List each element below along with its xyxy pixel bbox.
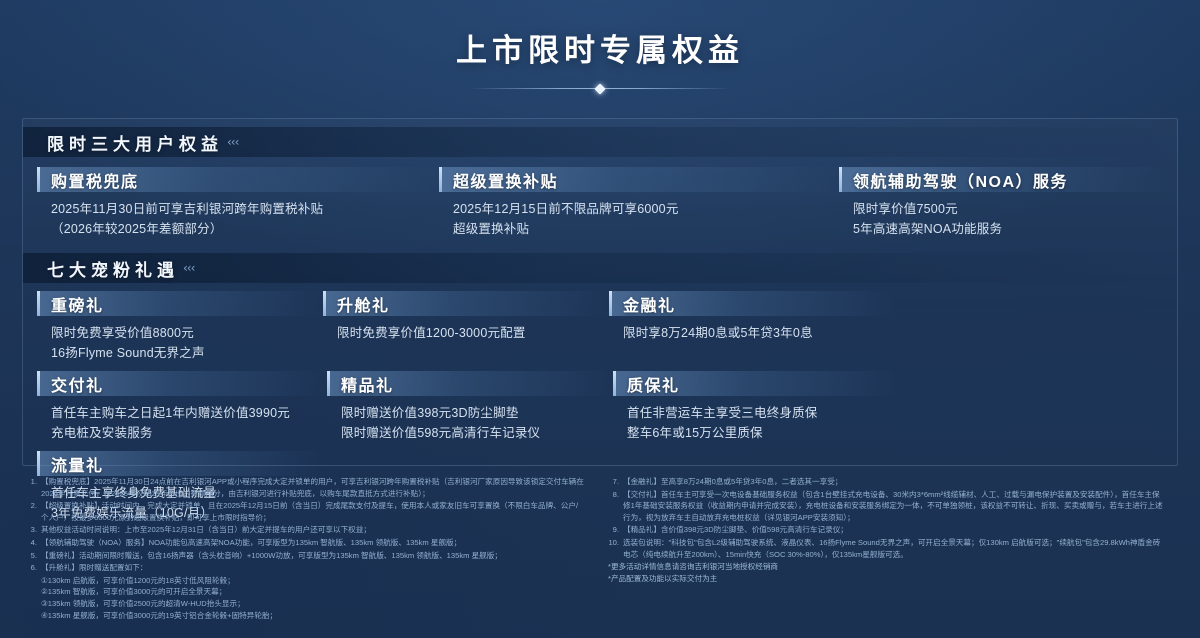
fineprint-text: 【领航辅助驾驶（NOA）服务】NOA功能包高速高架NOA功能，可享版型为135k… [41,537,584,549]
fineprint-number: 1. [24,476,41,499]
benefit-card[interactable]: 质保礼 首任非营运车主享受三电终身质保 整车6年或15万公里质保 [613,371,899,443]
card-line: 充电桩及安装服务 [37,423,327,443]
fineprint-subitem: ④135km 星舰版，可享价值3000元的19英寸铝合金轮毂+固特异轮胎； [24,610,584,622]
card-header: 领航辅助驾驶（NOA）服务 [839,167,1169,192]
card-line: 16扬Flyme Sound无界之声 [37,343,323,363]
fineprint-number: 4. [24,537,41,549]
chevrons-left-icon: ‹‹‹ [227,135,238,149]
card-header: 升舱礼 [323,291,609,316]
benefit-card[interactable]: 交付礼 首任车主购车之日起1年内赠送价值3990元 充电桩及安装服务 [37,371,327,443]
fineprint-subitem: ①130km 启航版，可享价值1200元的18英寸低风阻轮毂； [24,575,584,587]
card-header: 金融礼 [609,291,895,316]
card-line: 首任车主购车之日起1年内赠送价值3990元 [37,403,327,423]
fineprint-column-left: 1. 【购置税兜底】2025年11月30日24点前在吉利银河APP或小程序完成大… [24,476,584,626]
card-header: 流量礼 [37,451,323,476]
title-divider [470,84,730,93]
title-block: 上市限时专属权益 [0,0,1200,93]
card-title: 金融礼 [609,292,676,316]
card-line: 限时赠送价值398元3D防尘脚垫 [327,403,613,423]
card-header: 交付礼 [37,371,327,396]
fineprint-number: 8. [606,489,623,524]
fineprint-subitem: ③135km 领航版，可享价值2500元的超清W-HUD抬头显示； [24,598,584,610]
card-line: 限时赠送价值598元高清行车记录仪 [327,423,613,443]
benefit-card[interactable]: 重磅礼 限时免费享受价值8800元 16扬Flyme Sound无界之声 [37,291,323,363]
card-header: 质保礼 [613,371,899,396]
fineprint-number: 9. [606,524,623,536]
card-header: 购置税兜底 [37,167,439,192]
card-title: 升舱礼 [323,292,390,316]
fineprint-subitem: ②135km 智航版，可享价值3000元的可开启全景天幕； [24,586,584,598]
card-title: 质保礼 [613,372,680,396]
card-line: 首任非营运车主享受三电终身质保 [613,403,899,423]
fineprint-block: 1. 【购置税兜底】2025年11月30日24点前在吉利银河APP或小程序完成大… [24,476,1176,626]
card-line: 限时免费享受价值8800元 [37,323,323,343]
card-line: （2026年较2025年差额部分） [37,219,439,239]
promo-poster: 上市限时专属权益 限时三大用户权益 ‹‹‹ 购置税兜底 2025年11月30日前… [0,0,1200,638]
fineprint-item: 2. 【超级置换补贴】活动时间内，完成大定并锁单，且在2025年12月15日前（… [24,500,584,523]
fineprint-note: *产品配置及功能以实际交付为主 [606,573,1166,585]
section-title: 限时三大用户权益 [23,130,223,155]
card-header: 重磅礼 [37,291,323,316]
card-line: 限时享价值7500元 [839,199,1169,219]
fineprint-item: 6. 【升舱礼】限时赠送配置如下： [24,562,584,574]
benefit-card[interactable]: 购置税兜底 2025年11月30日前可享吉利银河跨年购置税补贴 （2026年较2… [37,167,439,239]
card-line: 整车6年或15万公里质保 [613,423,899,443]
card-title: 重磅礼 [37,292,104,316]
benefit-card[interactable]: 超级置换补贴 2025年12月15日前不限品牌可享6000元 超级置换补贴 [439,167,839,239]
fineprint-number: 6. [24,562,41,574]
card-line: 限时免费享价值1200-3000元配置 [323,323,609,343]
fineprint-note: *更多活动详情信息请咨询吉利银河当地授权经销商 [606,561,1166,573]
fineprint-item: 1. 【购置税兜底】2025年11月30日24点前在吉利银河APP或小程序完成大… [24,476,584,499]
card-line: 2025年11月30日前可享吉利银河跨年购置税补贴 [37,199,439,219]
fineprint-text: 选装包说明："科技包"包含L2级辅助驾驶系统、液晶仪表、16扬Flyme Sou… [623,537,1166,560]
fineprint-item: 9. 【精品礼】含价值398元3D防尘脚垫、价值598元高清行车记录仪； [606,524,1166,536]
fineprint-item: 3. 其他权益活动时间说明：上市至2025年12月31日（含当日）前大定并提车的… [24,524,584,536]
card-line: 限时享8万24期0息或5年贷3年0息 [609,323,895,343]
benefit-card[interactable]: 金融礼 限时享8万24期0息或5年贷3年0息 [609,291,895,363]
fineprint-text: 【升舱礼】限时赠送配置如下： [41,562,584,574]
fineprint-text: 【交付礼】首任车主可享受一次电设备基础服务权益（包含1台壁挂式充电设备、30米内… [623,489,1166,524]
card-line: 超级置换补贴 [439,219,839,239]
card-line: 5年高速高架NOA功能服务 [839,219,1169,239]
fineprint-text: 其他权益活动时间说明：上市至2025年12月31日（含当日）前大定并提车的用户还… [41,524,584,536]
divider-diamond-icon [594,83,605,94]
fineprint-text: 【精品礼】含价值398元3D防尘脚垫、价值598元高清行车记录仪； [623,524,1166,536]
fineprint-number: 2. [24,500,41,523]
card-header: 超级置换补贴 [439,167,839,192]
fineprint-item: 8. 【交付礼】首任车主可享受一次电设备基础服务权益（包含1台壁挂式充电设备、3… [606,489,1166,524]
page-title: 上市限时专属权益 [0,34,1200,68]
benefits-frame: 限时三大用户权益 ‹‹‹ 购置税兜底 2025年11月30日前可享吉利银河跨年购… [22,118,1178,466]
benefit-card-group-a: 购置税兜底 2025年11月30日前可享吉利银河跨年购置税补贴 （2026年较2… [23,157,1177,239]
fineprint-text: 【金融礼】至高享8万24期0息或5年贷3年0息，二者选其一享受； [623,476,1166,488]
fineprint-text: 【购置税兜底】2025年11月30日24点前在吉利银河APP或小程序完成大定并锁… [41,476,584,499]
benefit-card[interactable]: 升舱礼 限时免费享价值1200-3000元配置 [323,291,609,363]
fineprint-item: 7. 【金融礼】至高享8万24期0息或5年贷3年0息，二者选其一享受； [606,476,1166,488]
chevrons-left-icon: ‹‹‹ [183,261,194,275]
fineprint-item: 5. 【重磅礼】活动期间限时赠送，包含16扬声器（含头枕音响）+1000W功放，… [24,550,584,562]
fineprint-column-right: 7. 【金融礼】至高享8万24期0息或5年贷3年0息，二者选其一享受； 8. 【… [606,476,1166,626]
section-header-seven-gifts: 七大宠粉礼遇 ‹‹‹ [23,253,1177,283]
card-title: 超级置换补贴 [439,168,558,192]
card-title: 交付礼 [37,372,104,396]
fineprint-number: 3. [24,524,41,536]
section-header-three-benefits: 限时三大用户权益 ‹‹‹ [23,127,1177,157]
fineprint-number: 5. [24,550,41,562]
fineprint-text: 【超级置换补贴】活动时间内，完成大定并锁单，且在2025年12月15日前（含当日… [41,500,584,523]
fineprint-item: 10. 选装包说明："科技包"包含L2级辅助驾驶系统、液晶仪表、16扬Flyme… [606,537,1166,560]
card-title: 精品礼 [327,372,394,396]
benefit-card[interactable]: 领航辅助驾驶（NOA）服务 限时享价值7500元 5年高速高架NOA功能服务 [839,167,1169,239]
card-title: 购置税兜底 [37,168,139,192]
section-title: 七大宠粉礼遇 [23,256,179,281]
fineprint-number: 7. [606,476,623,488]
card-title: 流量礼 [37,452,104,476]
fineprint-text: 【重磅礼】活动期间限时赠送，包含16扬声器（含头枕音响）+1000W功放，可享版… [41,550,584,562]
fineprint-item: 4. 【领航辅助驾驶（NOA）服务】NOA功能包高速高架NOA功能，可享版型为1… [24,537,584,549]
card-title: 领航辅助驾驶（NOA）服务 [839,168,1068,192]
benefit-card[interactable]: 精品礼 限时赠送价值398元3D防尘脚垫 限时赠送价值598元高清行车记录仪 [327,371,613,443]
fineprint-number: 10. [606,537,623,560]
card-line: 2025年12月15日前不限品牌可享6000元 [439,199,839,219]
card-header: 精品礼 [327,371,613,396]
